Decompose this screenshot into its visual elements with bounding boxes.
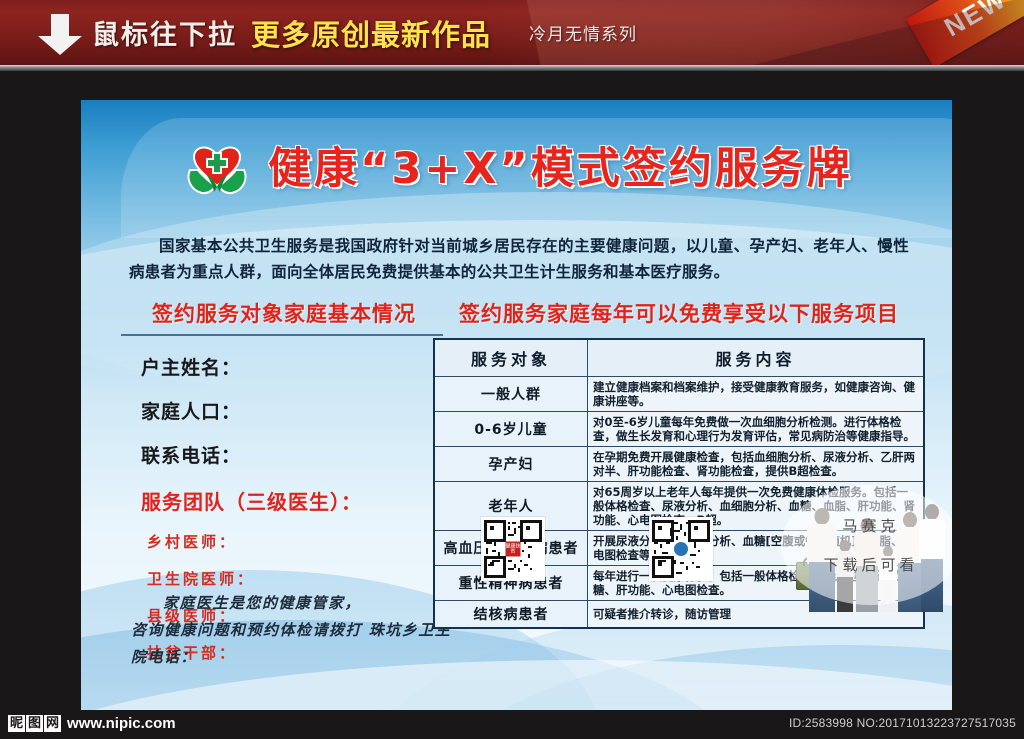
mosaic-watermark-line-2: 下载后可看 xyxy=(823,554,918,575)
poster-image[interactable]: 健康“3+X”模式签约服务牌 国家基本公共卫生服务是我国政府针对当前城乡居民存在… xyxy=(81,100,952,710)
mosaic-watermark-line-1: 马赛克 xyxy=(842,515,899,536)
col-header-service-content: 服务内容 xyxy=(588,339,925,377)
qr-center-badge-icon xyxy=(672,540,690,558)
team-item-township-doctor: 卫生院医师： xyxy=(147,568,449,589)
service-team-heading: 服务团队（三级医生）： xyxy=(141,486,449,515)
down-arrow-icon xyxy=(32,10,88,56)
nipic-logo-icon: 昵图网 xyxy=(8,715,62,732)
intro-paragraph: 国家基本公共卫生服务是我国政府针对当前城乡居民存在的主要健康问题，以儿童、孕产妇… xyxy=(129,233,909,285)
promo-banner[interactable]: 鼠标往下拉 更多原创最新作品 冷月无情系列 NEW xyxy=(0,0,1024,65)
promo-divider xyxy=(0,65,1024,71)
table-row: 0-6岁儿童 对0至-6岁儿童每年免费做一次血细胞分析检测。进行体格检查，做生长… xyxy=(434,412,924,447)
right-section-heading: 签约服务家庭每年可以免费享受以下服务项目 xyxy=(433,298,925,328)
promo-text-scroll-hint: 鼠标往下拉 xyxy=(92,13,237,52)
col-header-service-target: 服务对象 xyxy=(434,339,588,377)
promo-text-series: 冷月无情系列 xyxy=(529,20,637,45)
cell-content: 建立健康档案和档案维护，接受健康教育服务，如健康咨询、健康讲座等。 xyxy=(588,377,925,412)
footer-note-line-1: 家庭医生是您的健康管家， xyxy=(131,590,461,617)
table-row: 孕产妇 在孕期免费开展健康检查，包括血细胞分析、尿液分析、乙肝两对半、肝功能检查… xyxy=(434,447,924,482)
decorative-wave xyxy=(461,645,952,710)
qr-center-seal-icon: 健康扶贫 xyxy=(506,542,521,557)
image-id-label: ID:2583998 NO:20171013223727517035 xyxy=(789,716,1016,730)
cell-target: 孕产妇 xyxy=(434,447,588,482)
left-section-heading: 签约服务对象家庭基本情况 xyxy=(119,298,449,328)
cell-target: 一般人群 xyxy=(434,377,588,412)
qr-code-left[interactable]: 健康扶贫 xyxy=(481,517,545,581)
mosaic-watermark: 马赛克 下载后可看 xyxy=(781,485,952,605)
new-ribbon-badge: NEW xyxy=(906,0,1024,65)
site-url[interactable]: www.nipic.com xyxy=(67,715,176,732)
promo-text-headline: 更多原创最新作品 xyxy=(251,12,491,54)
field-householder-name: 户主姓名： xyxy=(141,353,449,380)
poster-title-row: 健康“3+X”模式签约服务牌 xyxy=(81,125,952,205)
footer-note: 家庭医生是您的健康管家， 咨询健康问题和预约体检请拨打 珠坑乡卫生院电话： xyxy=(131,590,461,671)
team-item-village-doctor: 乡村医师： xyxy=(147,531,449,552)
table-row: 一般人群 建立健康档案和档案维护，接受健康教育服务，如健康咨询、健康讲座等。 xyxy=(434,377,924,412)
backdrop-right xyxy=(952,71,1024,710)
qr-code-right[interactable] xyxy=(649,517,713,581)
cell-content: 在孕期免费开展健康检查，包括血细胞分析、尿液分析、乙肝两对半、肝功能检查、肾功能… xyxy=(588,447,925,482)
cell-target: 0-6岁儿童 xyxy=(434,412,588,447)
backdrop-left xyxy=(0,71,81,710)
table-header-row: 服务对象 服务内容 xyxy=(434,339,924,377)
site-brand[interactable]: 昵图网 www.nipic.com xyxy=(8,715,176,732)
left-heading-underline xyxy=(121,334,443,336)
cell-content: 对0至-6岁儿童每年免费做一次血细胞分析检测。进行体格检查，做生长发育和心理行为… xyxy=(588,412,925,447)
field-family-size: 家庭人口： xyxy=(141,397,449,424)
new-ribbon-label: NEW xyxy=(939,0,1012,43)
health-heart-hands-logo-icon xyxy=(180,130,254,200)
cell-target: 结核病患者 xyxy=(434,601,588,629)
page-title: 健康“3+X”模式签约服务牌 xyxy=(268,134,853,196)
field-contact-phone: 联系电话： xyxy=(141,441,449,468)
footer-note-line-2: 咨询健康问题和预约体检请拨打 xyxy=(131,621,362,639)
